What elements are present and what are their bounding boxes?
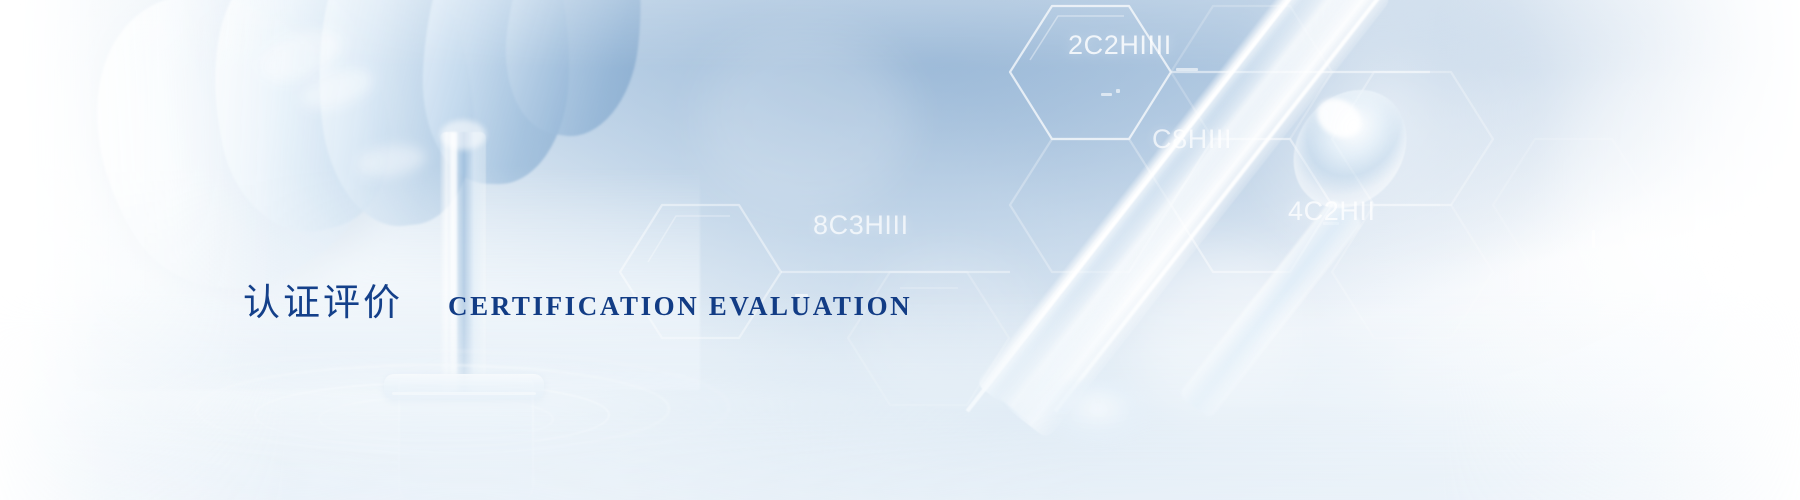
pipette-tip [1020, 380, 1150, 462]
certification-evaluation-banner: 2C2HIIII C8HIII 8C3HIII 4C2HII 认证评价 CERT… [0, 0, 1800, 500]
formula-label-c8hiii: C8HIII [1152, 124, 1232, 155]
formula-label-2c2hiiii: 2C2HIIII [1068, 30, 1172, 61]
bokeh-highlight-3 [700, 30, 910, 210]
formula-label-8c3hiii: 8C3HIII [813, 210, 909, 241]
page-title-english: CERTIFICATION EVALUATION [448, 293, 912, 320]
banner-headline: 认证评价 CERTIFICATION EVALUATION [243, 284, 912, 321]
glass-pipette [980, 0, 1680, 500]
hexagon-9-inner [648, 216, 730, 262]
page-title-chinese: 认证评价 [243, 284, 403, 321]
formula-label-4c2hii: 4C2HII [1288, 196, 1376, 227]
